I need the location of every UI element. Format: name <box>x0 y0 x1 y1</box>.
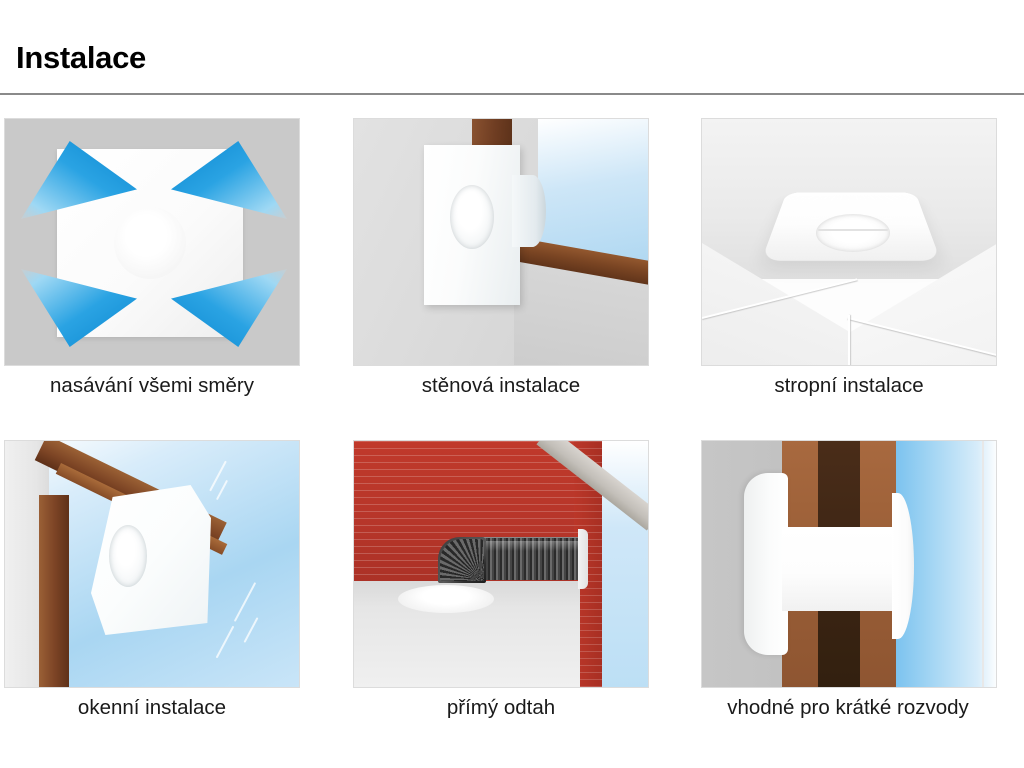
page-title: Instalace <box>16 42 146 73</box>
corner-seam-vertical <box>848 315 850 366</box>
figure-ceiling-mounted-fan[interactable] <box>701 118 997 366</box>
grid-cell-direct-exhaust[interactable]: přímý odtah <box>353 440 649 688</box>
window-frame-vertical-inner <box>65 507 80 688</box>
glass-reflection-3 <box>234 582 256 622</box>
airflow-arrow-bottom-left <box>21 269 137 347</box>
airflow-arrow-top-left <box>21 141 137 219</box>
figure-caption: nasávání všemi směry <box>4 374 300 399</box>
grid-cell-wall-installation[interactable]: stěnová instalace <box>353 118 649 366</box>
figure-caption: vhodné pro krátké rozvody <box>683 696 1013 721</box>
figure-direct-exhaust-duct[interactable] <box>353 440 649 688</box>
fan-vent-opening <box>450 185 494 249</box>
figure-short-duct-cross-section[interactable] <box>701 440 997 688</box>
figure-window-mounted-fan[interactable] <box>4 440 300 688</box>
fan-unit-glow <box>398 585 494 613</box>
airflow-arrow-top-right <box>171 141 287 219</box>
grid-cell-short-duct[interactable]: vhodné pro krátké rozvody <box>701 440 997 688</box>
figure-caption: stropní instalace <box>701 374 997 399</box>
installation-grid: nasávání všemi směry stěnová instalace <box>0 118 1024 762</box>
duct-outlet-collar <box>578 529 588 589</box>
glass-reflection-2 <box>216 480 228 500</box>
glass-reflection-5 <box>216 626 235 659</box>
fan-vent-opening <box>109 525 147 587</box>
panel-edge <box>982 441 984 688</box>
figure-omni-directional-intake[interactable] <box>4 118 300 366</box>
airflow-arrow-bottom-right <box>171 269 287 347</box>
duct-highlight <box>482 541 582 551</box>
duct-sleeve <box>782 527 904 611</box>
title-divider <box>0 93 1024 95</box>
glass-reflection-4 <box>244 617 259 643</box>
grid-row: okenní instalace přímý odtah <box>0 440 1024 762</box>
grid-cell-omni-intake[interactable]: nasávání všemi směry <box>4 118 300 366</box>
fan-outlet-nose <box>512 175 546 247</box>
grid-row: nasávání všemi směry stěnová instalace <box>0 118 1024 440</box>
fan-vent-opening <box>816 214 890 252</box>
grid-cell-window-installation[interactable]: okenní instalace <box>4 440 300 688</box>
figure-caption: stěnová instalace <box>353 374 649 399</box>
fan-vent-bar <box>818 229 888 231</box>
figure-caption: okenní instalace <box>4 696 300 721</box>
grid-cell-ceiling-installation[interactable]: stropní instalace <box>701 118 997 366</box>
figure-wall-mounted-fan[interactable] <box>353 118 649 366</box>
figure-caption: přímý odtah <box>353 696 649 721</box>
duct-elbow-pleats <box>440 539 484 581</box>
